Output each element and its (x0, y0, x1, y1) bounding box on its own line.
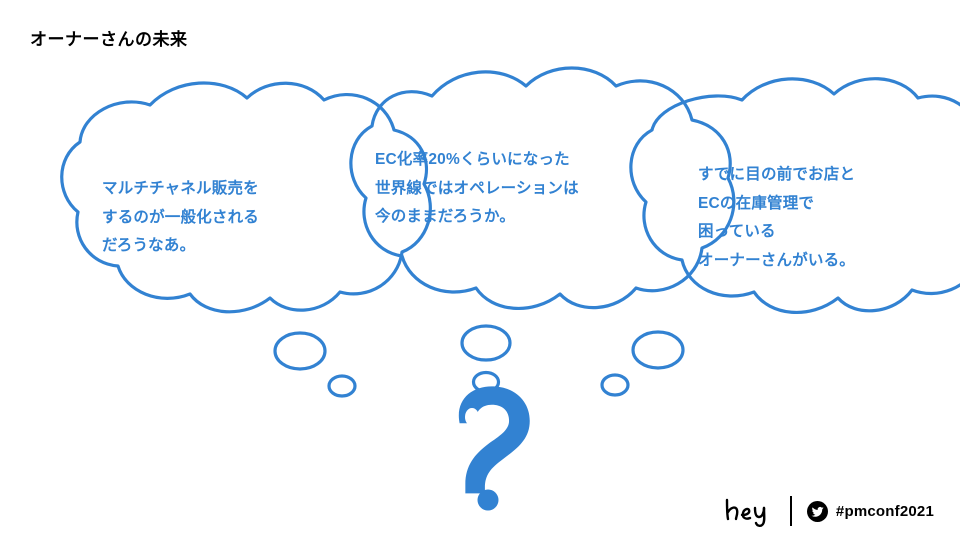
bubble-1-line-3: だろうなあ。 (102, 232, 259, 261)
bubble-2-line-2: 世界線ではオペレーションは (375, 175, 579, 204)
bubble-3-line-3: 困っている (698, 218, 855, 247)
bubble-3-line-2: ECの在庫管理で (698, 190, 855, 219)
thought-bubble-1-text: マルチチャネル販売を するのが一般化される だろうなあ。 (102, 175, 259, 261)
twitter-badge[interactable]: #pmconf2021 (807, 501, 934, 522)
hey-logo (723, 494, 775, 528)
bubble-2-line-3: 今のままだろうか。 (375, 203, 579, 232)
footer-divider (790, 496, 792, 526)
thought-bubble-3-text: すでに目の前でお店と ECの在庫管理で 困っている オーナーさんがいる。 (698, 161, 855, 276)
thought-bubble-2-tail-large (462, 326, 510, 360)
slide-canvas: オーナーさんの未来 (0, 0, 960, 540)
thought-bubble-3-tail-small (602, 375, 628, 395)
footer: #pmconf2021 (723, 494, 934, 528)
hashtag-label: #pmconf2021 (836, 503, 934, 520)
thought-bubble-1-tail-small (329, 376, 355, 396)
twitter-icon[interactable] (807, 501, 828, 522)
question-mark-icon (459, 386, 530, 510)
thought-bubble-3-tail-large (633, 332, 683, 368)
thought-bubble-1-tail-large (275, 333, 325, 369)
bubble-1-line-2: するのが一般化される (102, 204, 259, 233)
bubble-2-line-1: EC化率20%くらいになった (375, 146, 579, 175)
bubble-1-line-1: マルチチャネル販売を (102, 175, 259, 204)
bubble-3-line-4: オーナーさんがいる。 (698, 247, 855, 276)
bubble-3-line-1: すでに目の前でお店と (698, 161, 855, 190)
thought-bubble-2-text: EC化率20%くらいになった 世界線ではオペレーションは 今のままだろうか。 (375, 146, 579, 232)
